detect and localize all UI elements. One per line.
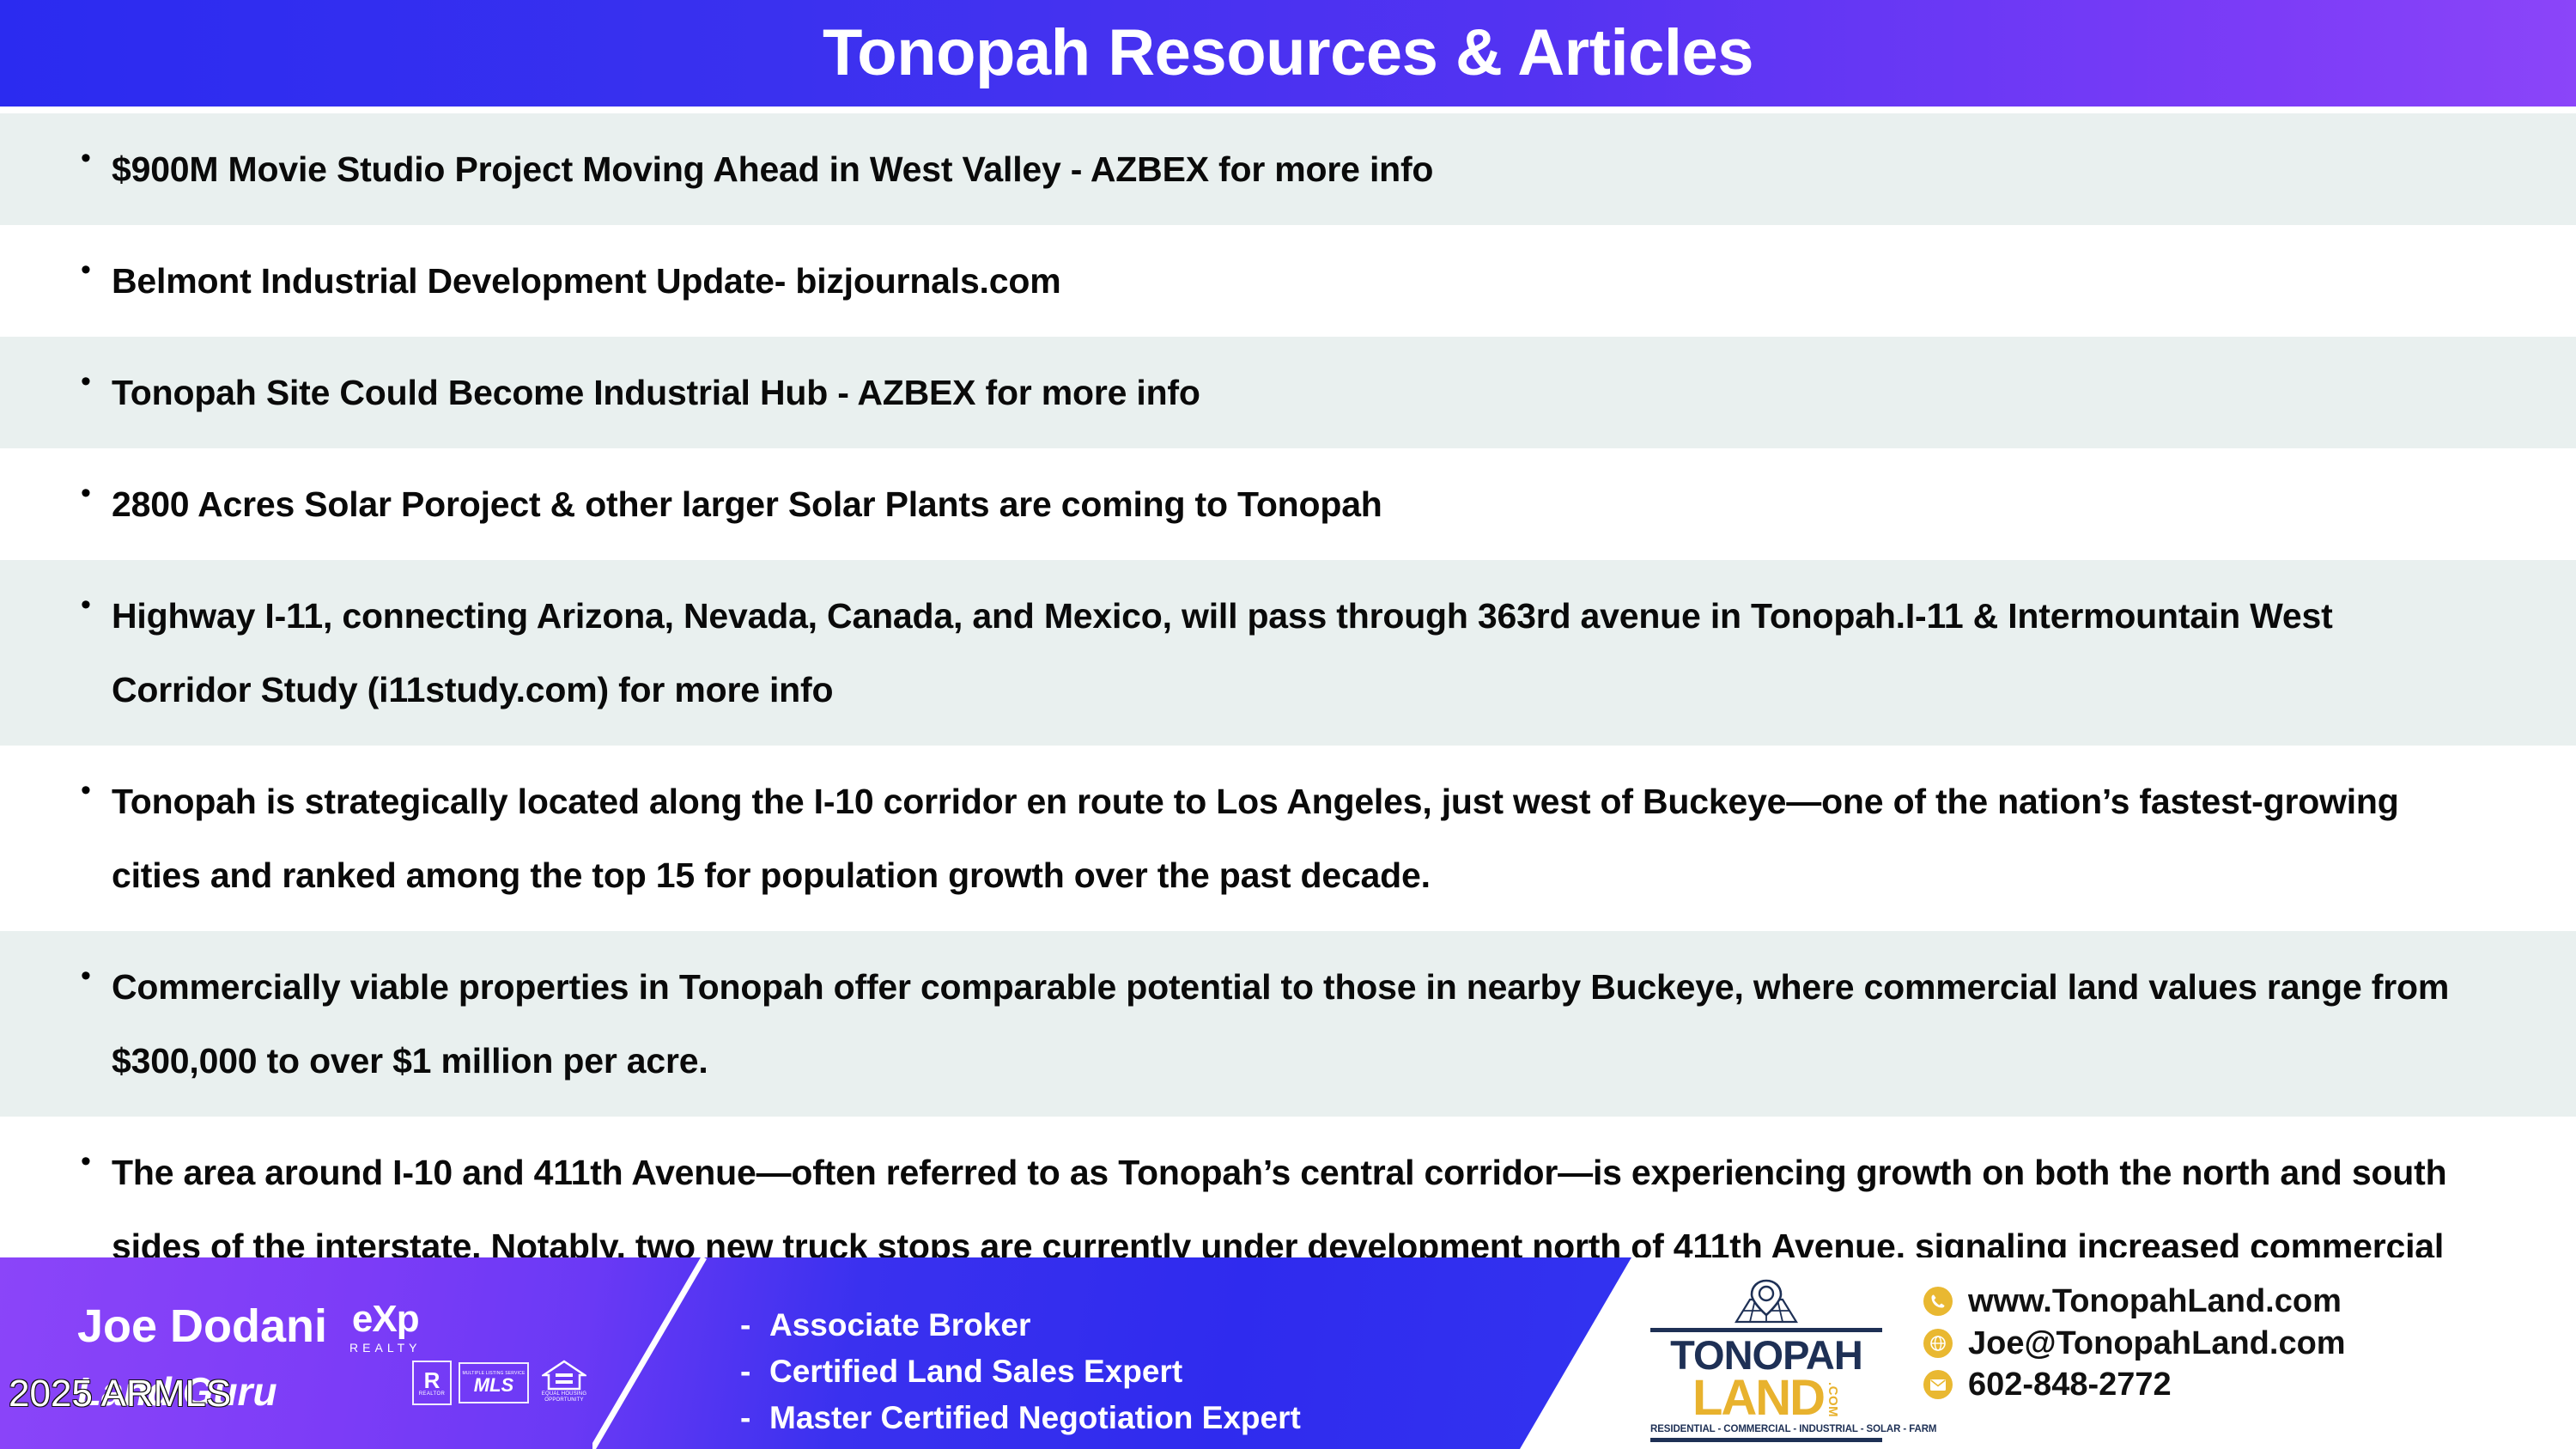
credential-item: - Associate Broker bbox=[740, 1302, 1301, 1349]
credential-label: Certified Land Sales Expert bbox=[769, 1349, 1182, 1395]
credential-item: - Master Certified Negotiation Expert bbox=[740, 1395, 1301, 1441]
list-item: • 2800 Acres Solar Poroject & other larg… bbox=[0, 448, 2576, 560]
resources-list: • $900M Movie Studio Project Moving Ahea… bbox=[0, 113, 2576, 1376]
list-item: • $900M Movie Studio Project Moving Ahea… bbox=[0, 113, 2576, 225]
bullet-point-icon: • bbox=[81, 132, 103, 184]
credential-item: - Certified Land Sales Expert bbox=[740, 1349, 1301, 1395]
solar-panel-map-pin-icon bbox=[1650, 1279, 1882, 1325]
equal-housing-badge-icon: EQUAL HOUSING OPPORTUNITY bbox=[536, 1359, 592, 1407]
bullet-point-icon: • bbox=[81, 1135, 103, 1187]
realtor-badge-icon: R REALTOR bbox=[412, 1361, 452, 1405]
list-item-text: Tonopah is strategically located along t… bbox=[112, 764, 2482, 912]
phone-glyph bbox=[1929, 1293, 1947, 1310]
contact-item-email[interactable]: Joe@TonopahLand.com bbox=[1923, 1325, 2346, 1362]
bullet-point-icon: • bbox=[81, 579, 103, 630]
logo-land-row: LAND .COM bbox=[1650, 1375, 1882, 1421]
contact-website-text: www.TonopahLand.com bbox=[1968, 1283, 2342, 1320]
list-item-text: 2800 Acres Solar Poroject & other larger… bbox=[112, 467, 1382, 541]
envelope-icon bbox=[1923, 1370, 1953, 1399]
agent-name: Joe Dodani bbox=[77, 1303, 327, 1349]
logo-com-suffix: .COM bbox=[1826, 1382, 1840, 1417]
list-item: • Tonopah is strategically located along… bbox=[0, 746, 2576, 931]
bullet-point-icon: • bbox=[81, 764, 103, 816]
list-item: • Commercially viable properties in Tono… bbox=[0, 931, 2576, 1117]
list-item-text: $900M Movie Studio Project Moving Ahead … bbox=[112, 132, 1433, 206]
list-item-text: Highway I-11, connecting Arizona, Nevada… bbox=[112, 579, 2482, 727]
contact-item-website[interactable]: www.TonopahLand.com bbox=[1923, 1283, 2346, 1320]
logo-tagline: RESIDENTIAL - COMMERCIAL - INDUSTRIAL - … bbox=[1650, 1424, 1882, 1434]
credential-label: Master Certified Negotiation Expert bbox=[769, 1395, 1301, 1441]
list-item-text: Belmont Industrial Development Update- b… bbox=[112, 244, 1060, 318]
tonopah-land-logo: TONOPAH LAND .COM RESIDENTIAL - COMMERCI… bbox=[1650, 1279, 1882, 1442]
credential-dash: - bbox=[740, 1302, 754, 1349]
mls-badge-icon: MULTIPLE LISTING SERVICE MLS bbox=[459, 1362, 529, 1403]
list-item-text: Tonopah Site Could Become Industrial Hub… bbox=[112, 356, 1200, 429]
page-header: Tonopah Resources & Articles bbox=[0, 0, 2576, 107]
list-item: • Tonopah Site Could Become Industrial H… bbox=[0, 337, 2576, 448]
phone-icon bbox=[1923, 1287, 1953, 1316]
credential-dash: - bbox=[740, 1395, 754, 1441]
exp-realty-subtext: REALTY bbox=[349, 1341, 421, 1355]
realtor-word: REALTOR bbox=[419, 1391, 446, 1397]
armls-watermark: 2025 ARMLS bbox=[9, 1375, 231, 1413]
agent-name-row: Joe Dodani eXp REALTY bbox=[77, 1297, 610, 1355]
bullet-point-icon: • bbox=[81, 467, 103, 519]
page-title: Tonopah Resources & Articles bbox=[823, 21, 1753, 86]
compliance-badges: R REALTOR MULTIPLE LISTING SERVICE MLS E… bbox=[412, 1359, 592, 1407]
mls-word: MLS bbox=[474, 1376, 513, 1395]
contact-phone-text: 602-848-2772 bbox=[1968, 1367, 2172, 1403]
contact-email-text: Joe@TonopahLand.com bbox=[1968, 1325, 2346, 1362]
globe-icon bbox=[1923, 1329, 1953, 1358]
realtor-letter: R bbox=[424, 1369, 440, 1391]
list-item: • Highway I-11, connecting Arizona, Neva… bbox=[0, 560, 2576, 746]
contact-item-phone[interactable]: 602-848-2772 bbox=[1923, 1367, 2346, 1403]
globe-glyph bbox=[1929, 1335, 1947, 1352]
credentials-list: - Associate Broker - Certified Land Sale… bbox=[740, 1302, 1301, 1441]
equal-housing-house-icon bbox=[542, 1359, 586, 1391]
credential-label: Associate Broker bbox=[769, 1302, 1030, 1349]
bullet-point-icon: • bbox=[81, 356, 103, 407]
list-item: • Belmont Industrial Development Update-… bbox=[0, 225, 2576, 337]
equal-housing-label: EQUAL HOUSING OPPORTUNITY bbox=[536, 1391, 592, 1403]
list-item-text: Commercially viable properties in Tonopa… bbox=[112, 950, 2482, 1098]
logo-land-word: LAND bbox=[1692, 1375, 1824, 1421]
credential-dash: - bbox=[740, 1349, 754, 1395]
bullet-point-icon: • bbox=[81, 950, 103, 1002]
exp-realty-logo: eXp REALTY bbox=[349, 1300, 421, 1355]
contact-list: www.TonopahLand.com Joe@TonopahLand.com … bbox=[1923, 1283, 2346, 1409]
logo-bottom-rule bbox=[1650, 1438, 1882, 1442]
exp-wordmark: eXp bbox=[352, 1300, 419, 1338]
envelope-glyph bbox=[1929, 1378, 1947, 1391]
logo-mark-icon bbox=[1702, 1279, 1831, 1325]
bullet-point-icon: • bbox=[81, 244, 103, 295]
